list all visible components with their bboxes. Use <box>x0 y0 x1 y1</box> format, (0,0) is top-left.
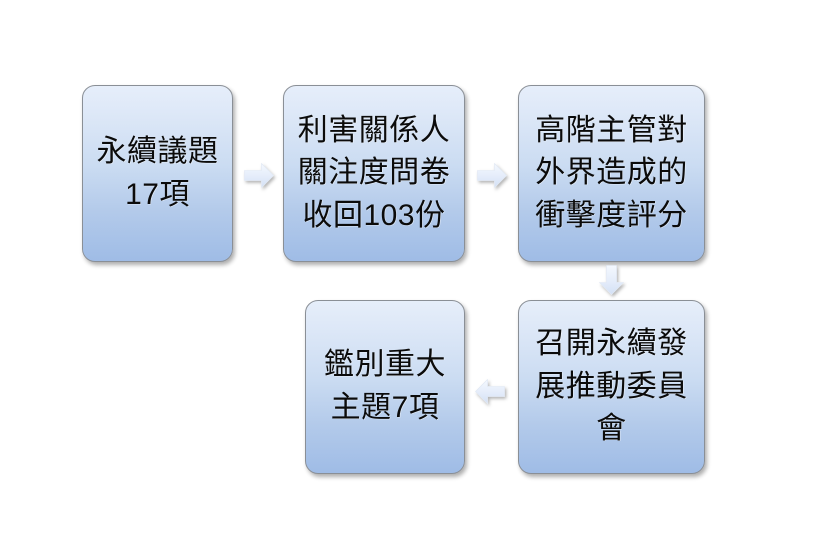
process-node-label: 永續議題 17項 <box>83 131 232 216</box>
arrow-right-icon-node1-node2 <box>243 161 275 190</box>
process-node-stakeholder-survey[interactable]: 利害關係人 關注度問卷 收回103份 <box>283 85 465 262</box>
process-node-sustainability-committee[interactable]: 召開永續發 展推動委員 會 <box>518 300 705 474</box>
arrow-right-icon-node2-node3 <box>476 161 508 190</box>
arrow-left-icon-node4-node5 <box>474 377 506 406</box>
process-node-executive-impact-scoring[interactable]: 高階主管對 外界造成的 衝擊度評分 <box>518 85 705 262</box>
arrow-down-icon-node3-node4 <box>597 264 626 296</box>
process-node-sustainability-issues[interactable]: 永續議題 17項 <box>82 85 233 262</box>
flowchart-canvas: 永續議題 17項 利害關係人 關注度問卷 收回103份 高階主管對 外界造成的 … <box>0 0 840 560</box>
process-node-material-topics[interactable]: 鑑別重大 主題7項 <box>305 300 465 474</box>
process-node-label: 鑑別重大 主題7項 <box>306 344 464 429</box>
process-node-label: 召開永續發 展推動委員 會 <box>519 323 704 451</box>
process-node-label: 高階主管對 外界造成的 衝擊度評分 <box>519 110 704 238</box>
process-node-label: 利害關係人 關注度問卷 收回103份 <box>284 110 464 238</box>
